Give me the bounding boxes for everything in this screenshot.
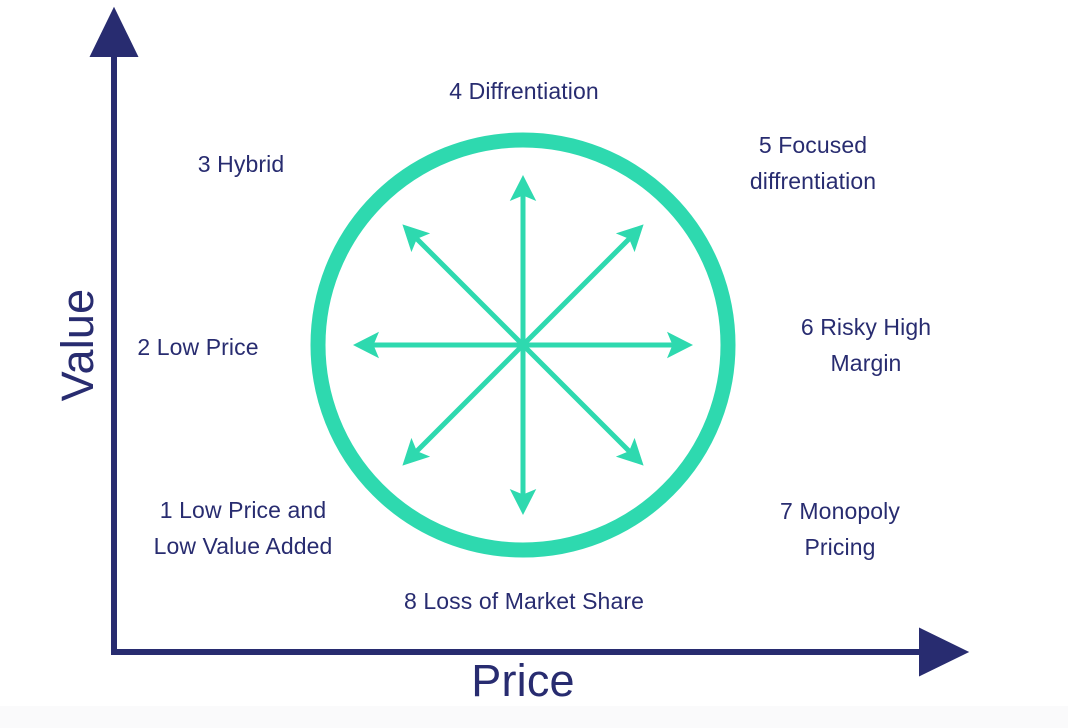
x-axis-title: Price [383, 656, 663, 706]
strategy-label-2: 2 Low Price [112, 329, 284, 365]
strategy-label-7: 7 Monopoly Pricing [740, 493, 940, 565]
strategy-label-8: 8 Loss of Market Share [363, 583, 685, 619]
arrow-down-right [523, 345, 633, 455]
strategy-label-3: 3 Hybrid [152, 146, 330, 182]
y-axis-title: Value [53, 245, 103, 445]
strategy-clock-diagram: Value Price 1 Low Price and Low Value Ad… [0, 0, 1068, 728]
arrow-up-left [413, 235, 523, 345]
strategy-label-1: 1 Low Price and Low Value Added [128, 492, 358, 564]
arrow-up-right [523, 235, 633, 345]
strategy-label-4: 4 Diffrentiation [403, 73, 645, 109]
arrow-down-left [413, 345, 523, 455]
strategy-label-5: 5 Focused diffrentiation [713, 127, 913, 199]
strategy-label-6: 6 Risky High Margin [766, 309, 966, 381]
